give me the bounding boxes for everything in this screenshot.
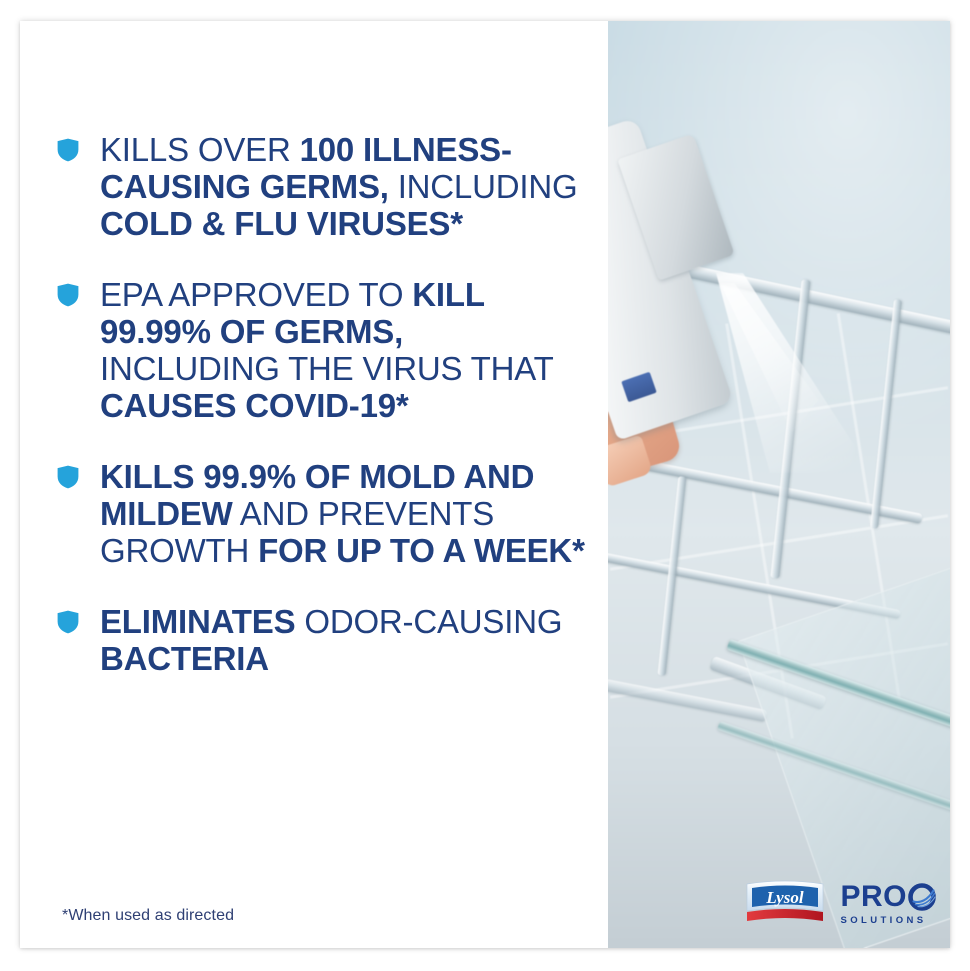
- benefit-item-germs: KILLS OVER 100 ILLNESS-CAUSING GERMS, IN…: [57, 131, 587, 242]
- footnote-disclaimer: *When used as directed: [62, 907, 234, 925]
- benefit-text: EPA APPROVED TO KILL 99.99% OF GERMS, IN…: [100, 276, 587, 424]
- benefit-item-epa-covid: EPA APPROVED TO KILL 99.99% OF GERMS, IN…: [57, 276, 587, 424]
- benefit-text: ELIMINATES ODOR-CAUSING BACTERIA: [100, 603, 587, 677]
- benefit-segment: KILLS OVER: [100, 131, 300, 168]
- benefit-segment-bold: COLD & FLU VIRUSES*: [100, 205, 463, 242]
- pro-wordmark-row: PRO: [840, 882, 936, 912]
- benefit-segment-bold: BACTERIA: [100, 640, 269, 677]
- benefit-item-odor-bacteria: ELIMINATES ODOR-CAUSING BACTERIA: [57, 603, 587, 677]
- pro-wordmark: PRO: [840, 882, 907, 912]
- benefit-segment: INCLUDING: [389, 168, 578, 205]
- benefit-item-mold-mildew: KILLS 99.9% OF MOLD AND MILDEW AND PREVE…: [57, 458, 587, 569]
- benefit-segment-bold: FOR UP TO A WEEK*: [258, 532, 585, 569]
- pro-globe-icon: [908, 883, 936, 911]
- lysol-banner-logo: Lysol: [744, 878, 826, 930]
- advertisement-canvas: KILLS OVER 100 ILLNESS-CAUSING GERMS, IN…: [0, 0, 970, 971]
- brand-logo-strip: Lysol PRO SOLUTIONS: [744, 878, 936, 930]
- product-claims-card: KILLS OVER 100 ILLNESS-CAUSING GERMS, IN…: [20, 21, 950, 948]
- benefits-list: KILLS OVER 100 ILLNESS-CAUSING GERMS, IN…: [57, 131, 587, 677]
- shield-icon: [57, 610, 79, 634]
- benefit-segment: EPA APPROVED TO: [100, 276, 412, 313]
- benefit-segment: INCLUDING THE VIRUS THAT: [100, 350, 553, 387]
- pro-solutions-logo: PRO SOLUTIONS: [840, 882, 936, 926]
- benefit-text: KILLS 99.9% OF MOLD AND MILDEW AND PREVE…: [100, 458, 587, 569]
- benefits-copy-column: KILLS OVER 100 ILLNESS-CAUSING GERMS, IN…: [20, 21, 608, 948]
- product-in-use-photo-panel: Lysol PRO SOLUTIONS: [608, 21, 950, 948]
- shield-icon: [57, 138, 79, 162]
- benefit-segment-bold: CAUSES COVID-19*: [100, 387, 409, 424]
- shield-icon: [57, 465, 79, 489]
- pro-solutions-subtitle: SOLUTIONS: [840, 916, 926, 926]
- shield-icon: [57, 283, 79, 307]
- lysol-wordmark: Lysol: [766, 888, 804, 907]
- benefit-segment-bold: ELIMINATES: [100, 603, 295, 640]
- product-in-use-photo: [608, 21, 950, 948]
- benefit-text: KILLS OVER 100 ILLNESS-CAUSING GERMS, IN…: [100, 131, 587, 242]
- benefit-segment: ODOR-CAUSING: [295, 603, 562, 640]
